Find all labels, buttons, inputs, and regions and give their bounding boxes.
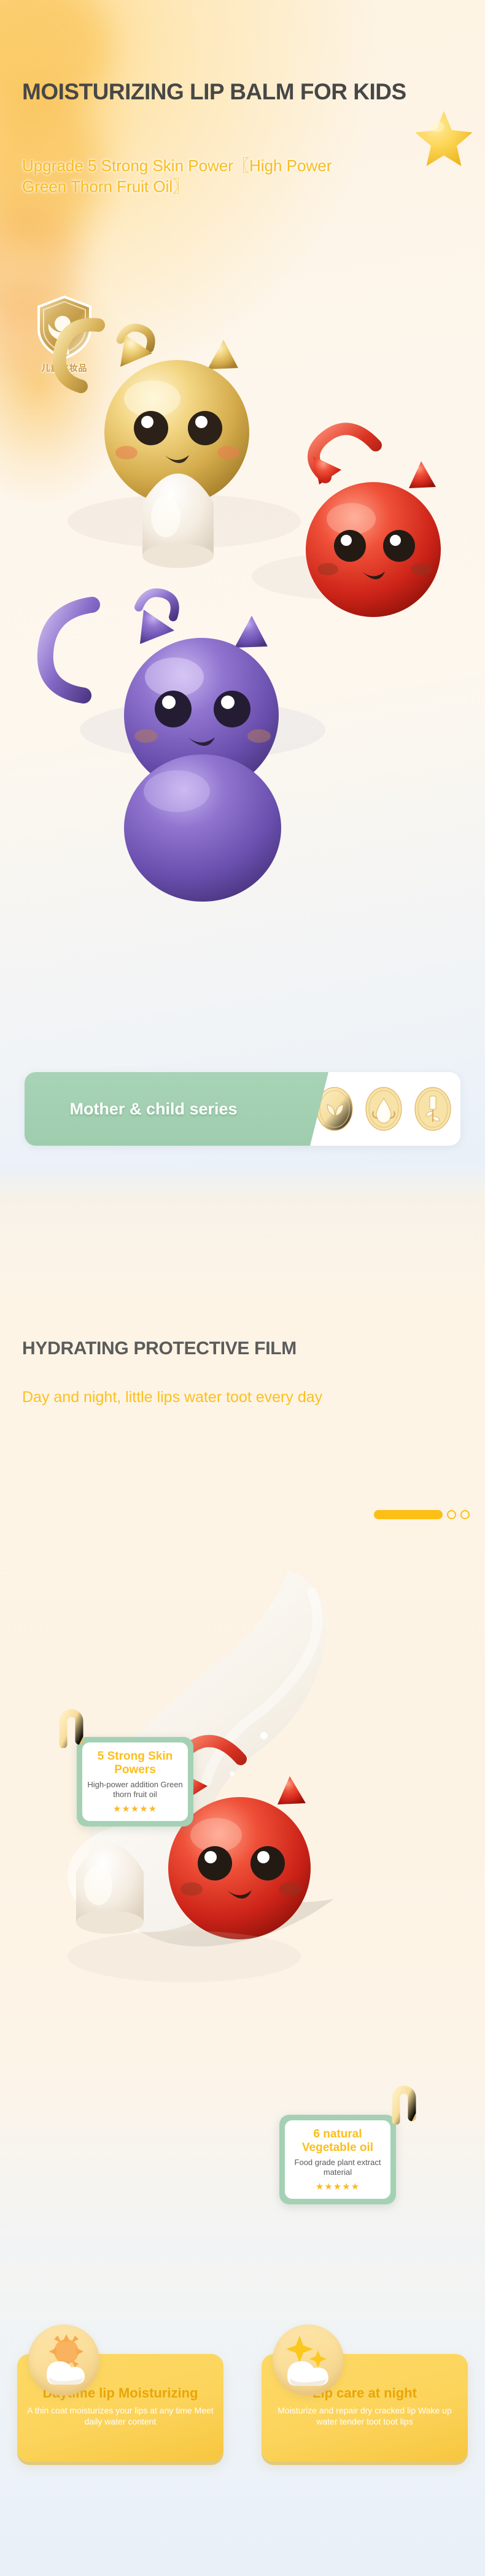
hero-section: MOISTURIZING LIP BALM FOR KIDS Upgrade 5… xyxy=(0,0,485,1165)
feature-card-inner: 5 Strong Skin Powers High-power addition… xyxy=(82,1742,188,1821)
feature-card-stars: ★★★★★ xyxy=(86,1803,184,1814)
splash-graphics xyxy=(0,1533,485,2257)
feature-card-6-natural-vegetable-oil: 6 natural Vegetable oil Food grade plant… xyxy=(279,2115,396,2204)
progress-indicator[interactable] xyxy=(374,1510,470,1519)
feature-card-desc: Food grade plant extract material xyxy=(289,2158,387,2178)
panel-daytime-lip-moisturizing: Daytime lip Moisturizing A thin coat moi… xyxy=(17,2354,223,2462)
product-gold-kitten xyxy=(60,324,249,505)
product-photo-collage xyxy=(0,301,485,1037)
cream-splash-photo xyxy=(0,1533,485,2257)
product-purple-kitten xyxy=(45,592,281,902)
panel-desc: Moisturize and repair dry cracked lip Wa… xyxy=(271,2405,458,2427)
sun-behind-cloud-icon xyxy=(28,2325,99,2396)
series-title: Mother & child series xyxy=(69,1100,237,1118)
product-detail-page: MOISTURIZING LIP BALM FOR KIDS Upgrade 5… xyxy=(0,0,485,2576)
feature-card-stars: ★★★★★ xyxy=(289,2181,387,2192)
hero-subtitle: Upgrade 5 Strong Skin Power〖High Power G… xyxy=(22,155,366,197)
star-decoration-icon xyxy=(410,104,478,172)
carabiner-hook-icon xyxy=(385,2079,418,2125)
sparkle-cloud-night-icon xyxy=(273,2325,344,2396)
section2-title: HYDRATING PROTECTIVE FILM xyxy=(22,1338,297,1359)
series-banner: Mother & child series xyxy=(25,1072,460,1146)
series-banner-left: Mother & child series xyxy=(25,1072,282,1146)
feature-card-inner: 6 natural Vegetable oil Food grade plant… xyxy=(285,2120,390,2199)
feature-card-5-strong-skin-powers: 5 Strong Skin Powers High-power addition… xyxy=(77,1737,193,1827)
carabiner-hook-icon xyxy=(52,1703,85,1748)
water-drop-recycle-medal-icon xyxy=(365,1086,403,1132)
page-title: MOISTURIZING LIP BALM FOR KIDS xyxy=(22,79,452,105)
product-red-kitten xyxy=(306,429,441,617)
panel-lip-care-at-night: Lip care at night Moisturize and repair … xyxy=(262,2354,468,2462)
feature-card-title: 6 natural Vegetable oil xyxy=(289,2128,387,2155)
progress-dot[interactable] xyxy=(447,1510,456,1519)
feature-card-desc: High-power addition Green thorn fruit oi… xyxy=(86,1780,184,1800)
progress-bar-filled xyxy=(374,1510,443,1519)
section2-subtitle: Day and night, little lips water toot ev… xyxy=(22,1387,366,1408)
product-images xyxy=(0,301,485,1037)
panel-desc: A thin coat moisturizes your lips at any… xyxy=(27,2405,214,2427)
feature-card-title: 5 Strong Skin Powers xyxy=(86,1750,184,1777)
simple-formula-medal-icon xyxy=(414,1086,452,1132)
progress-dot[interactable] xyxy=(460,1510,470,1519)
